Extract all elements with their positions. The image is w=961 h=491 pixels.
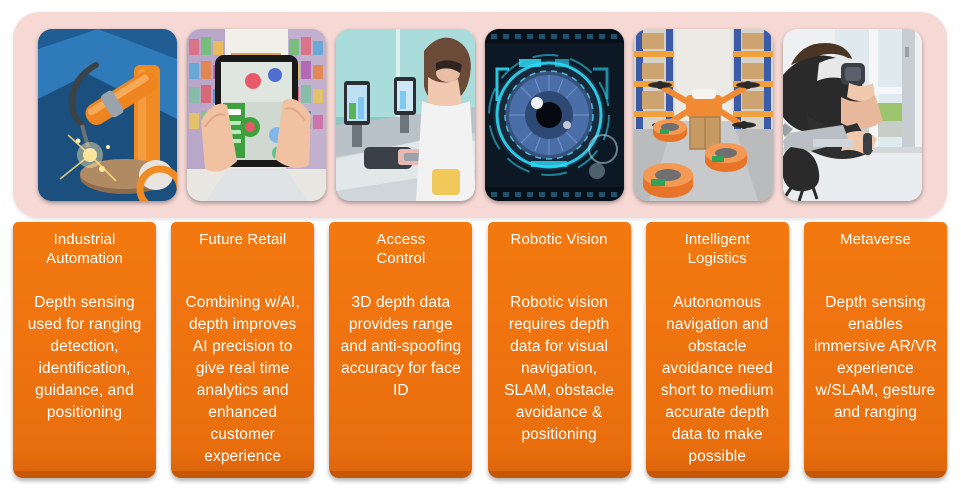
- card-title-line1: Future Retail: [199, 231, 286, 248]
- infographic-canvas: Industrial Automation Depth sensing used…: [0, 0, 961, 491]
- photo-industrial-automation[interactable]: [38, 29, 177, 201]
- card-metaverse[interactable]: Metaverse Depth sensing enables immersiv…: [804, 222, 947, 478]
- photo-row: [38, 29, 922, 201]
- card-title-line2: Automation: [46, 250, 123, 267]
- card-robotic-vision[interactable]: Robotic Vision Robotic vision requires d…: [488, 222, 631, 478]
- card-title: Future Retail: [177, 230, 308, 268]
- card-title: Industrial Automation: [19, 230, 150, 268]
- card-body: Depth sensing used for ranging detection…: [19, 292, 150, 424]
- card-title: Metaverse: [810, 230, 941, 268]
- card-title-line1: Robotic Vision: [511, 231, 608, 248]
- card-intelligent-logistics[interactable]: Intelligent Logistics Autonomous navigat…: [646, 222, 789, 478]
- photo-future-retail[interactable]: [187, 29, 326, 201]
- card-body: 3D depth data provides range and anti-sp…: [335, 292, 466, 402]
- card-title-line2: Logistics: [688, 250, 747, 267]
- card-access-control[interactable]: Access Control 3D depth data provides ra…: [329, 222, 472, 478]
- photo-metaverse[interactable]: [783, 29, 922, 201]
- card-body: Robotic vision requires depth data for v…: [494, 292, 625, 446]
- card-title-line2: Control: [376, 250, 425, 267]
- card-body: Depth sensing enables immersive AR/VR ex…: [810, 292, 941, 424]
- card-title: Robotic Vision: [494, 230, 625, 268]
- card-body: Combining w/AI, depth improves AI precis…: [177, 292, 308, 468]
- card-title-line1: Intelligent: [685, 231, 750, 248]
- card-title-line1: Metaverse: [840, 231, 911, 248]
- card-body: Autonomous navigation and obstacle avoid…: [652, 292, 783, 468]
- card-row: Industrial Automation Depth sensing used…: [13, 222, 947, 484]
- card-title: Intelligent Logistics: [652, 230, 783, 268]
- photo-robotic-vision[interactable]: [485, 29, 624, 201]
- photo-access-control[interactable]: [336, 29, 475, 201]
- card-title-line1: Industrial: [54, 231, 116, 248]
- card-title: Access Control: [335, 230, 466, 268]
- card-future-retail[interactable]: Future Retail Combining w/AI, depth impr…: [171, 222, 314, 478]
- card-industrial-automation[interactable]: Industrial Automation Depth sensing used…: [13, 222, 156, 478]
- card-title-line1: Access: [376, 231, 425, 248]
- photo-intelligent-logistics[interactable]: [634, 29, 773, 201]
- photo-band: [13, 12, 947, 218]
